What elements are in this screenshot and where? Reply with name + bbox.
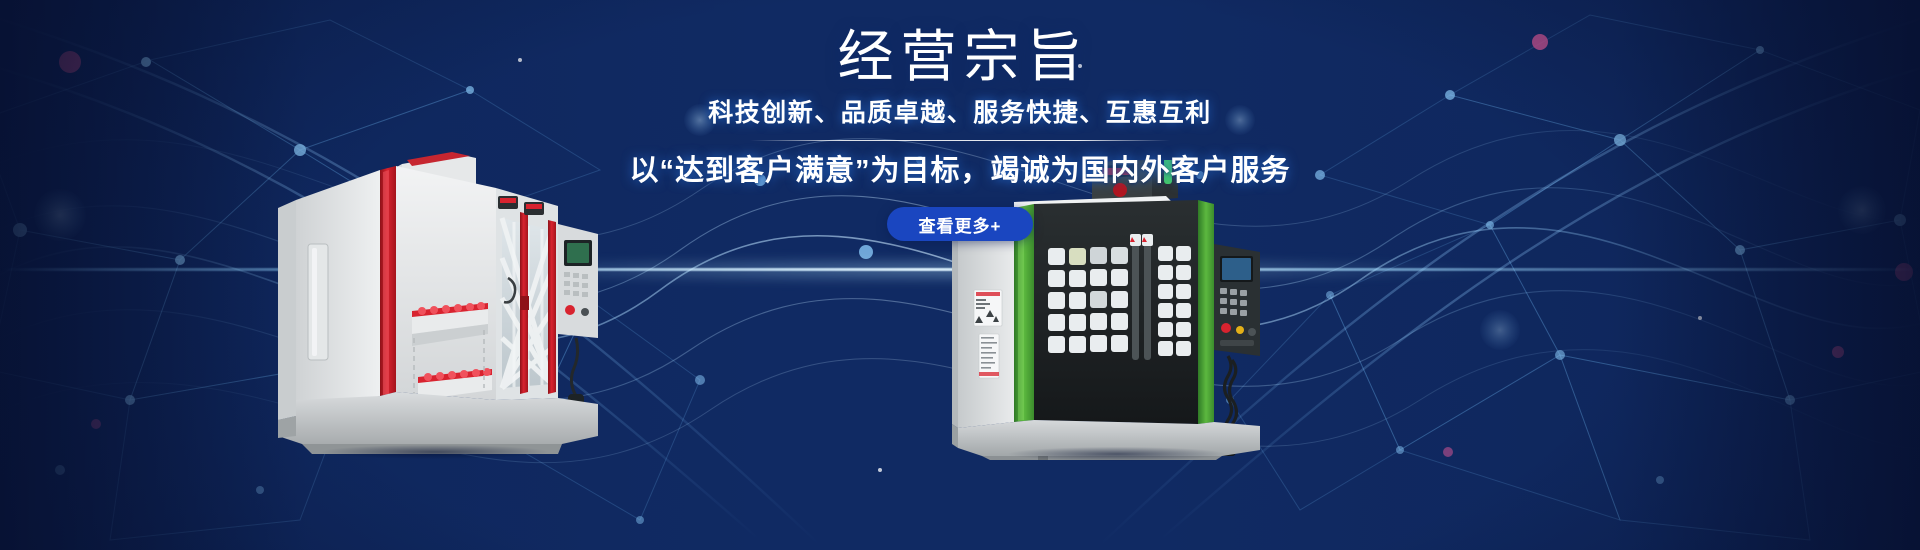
left-machine-shadow [276,442,593,462]
banner-tagline: 以“达到客户满意”为目标，竭诚为国内外客户服务 [629,153,1290,189]
view-more-button[interactable]: 查看更多+ [887,207,1033,241]
text-divider [750,140,1170,141]
page-title: 经营宗旨 [831,26,1090,89]
hero-banner: 经营宗旨 科技创新、品质卓越、服务快捷、互惠互利 以“达到客户满意”为目标，竭诚… [0,0,1920,550]
banner-subtitle: 科技创新、品质卓越、服务快捷、互惠互利 [708,98,1212,129]
right-machine-shadow [965,444,1269,464]
cnc-control-panel [1214,244,1260,356]
control-pendant [558,224,598,424]
banner-text-block: 经营宗旨 科技创新、品质卓越、服务快捷、互惠互利 以“达到客户满意”为目标，竭诚… [0,26,1920,241]
